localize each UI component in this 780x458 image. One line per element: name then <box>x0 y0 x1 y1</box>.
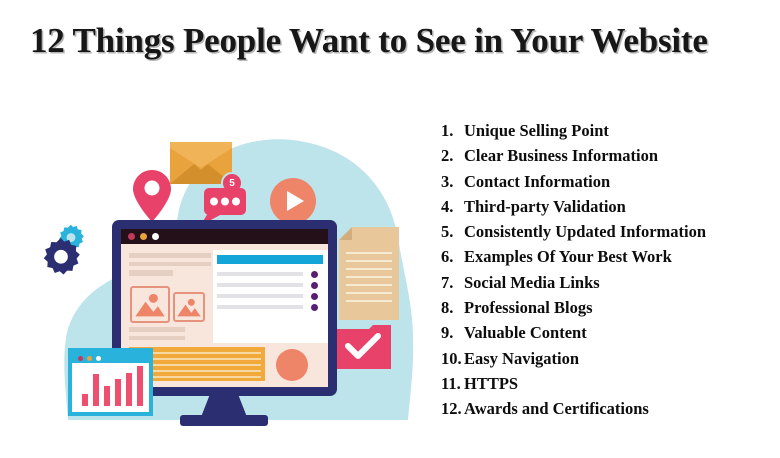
bullet-dot <box>311 282 318 289</box>
list-item: 3. Contact Information <box>441 169 771 194</box>
list-item: 5. Consistently Updated Information <box>441 219 771 244</box>
list-item-number: 6. <box>441 244 464 269</box>
chart-bar <box>104 386 110 406</box>
content-line <box>217 283 303 287</box>
folder-check-icon <box>335 325 391 369</box>
panel-line <box>129 270 173 276</box>
list-item-label: Easy Navigation <box>464 346 579 371</box>
chart-dot-amber <box>87 356 92 361</box>
list-item-label: Awards and Certifications <box>464 396 649 421</box>
map-pin-icon <box>133 170 171 222</box>
content-line <box>217 272 303 276</box>
list-item-number: 7. <box>441 270 464 295</box>
features-list: 1. Unique Selling Point 2. Clear Busines… <box>441 118 771 422</box>
list-item: 2. Clear Business Information <box>441 143 771 168</box>
list-item-label: Examples Of Your Best Work <box>464 244 672 269</box>
chart-bar <box>82 394 88 406</box>
list-item: 8. Professional Blogs <box>441 295 771 320</box>
envelope-icon: 5 <box>170 142 232 184</box>
list-item: 11. HTTPS <box>441 371 771 396</box>
list-item: 4. Third-party Validation <box>441 194 771 219</box>
list-item: 7. Social Media Links <box>441 270 771 295</box>
list-item-number: 3. <box>441 169 464 194</box>
monitor-neck <box>201 396 247 417</box>
content-header-bar <box>217 255 323 264</box>
page-title: 12 Things People Want to See in Your Web… <box>30 18 760 64</box>
chart-dot-red <box>78 356 83 361</box>
list-item-label: Professional Blogs <box>464 295 593 320</box>
list-item-label: Consistently Updated Information <box>464 219 706 244</box>
browser-titlebar <box>121 229 328 244</box>
play-button-icon <box>270 178 316 224</box>
panel-line <box>129 253 211 258</box>
image-glyph-icon <box>175 294 203 320</box>
list-item-number: 4. <box>441 194 464 219</box>
footer-avatar <box>276 349 308 381</box>
list-item: 6. Examples Of Your Best Work <box>441 244 771 269</box>
list-item-number: 8. <box>441 295 464 320</box>
image-placeholder <box>173 292 205 322</box>
bullet-dot <box>311 293 318 300</box>
list-item-label: Unique Selling Point <box>464 118 609 143</box>
chart-bar <box>137 366 143 406</box>
list-item-number: 9. <box>441 320 464 345</box>
list-item-number: 11. <box>441 371 464 396</box>
list-item-label: Clear Business Information <box>464 143 658 168</box>
panel-line <box>129 327 185 332</box>
list-item-label: Valuable Content <box>464 320 587 345</box>
list-item-number: 1. <box>441 118 464 143</box>
chart-bar <box>126 373 132 406</box>
list-item-number: 5. <box>441 219 464 244</box>
list-item: 1. Unique Selling Point <box>441 118 771 143</box>
infographic-page: 12 Things People Want to See in Your Web… <box>0 0 780 458</box>
illustration: 5 <box>0 100 440 458</box>
browser-dot-red <box>128 233 135 240</box>
document-icon <box>339 227 399 320</box>
list-item: 9. Valuable Content <box>441 320 771 345</box>
chart-dot-white <box>96 356 101 361</box>
browser-dot-white <box>152 233 159 240</box>
image-placeholder <box>130 286 170 323</box>
browser-dot-amber <box>140 233 147 240</box>
bullet-dot <box>311 271 318 278</box>
list-item-number: 2. <box>441 143 464 168</box>
monitor-base <box>180 415 268 426</box>
content-line <box>217 305 303 309</box>
bullet-dot <box>311 304 318 311</box>
image-glyph-icon <box>132 288 168 321</box>
list-item: 12. Awards and Certifications <box>441 396 771 421</box>
list-item: 10. Easy Navigation <box>441 346 771 371</box>
list-item-number: 12. <box>441 396 464 421</box>
chart-titlebar <box>72 352 149 363</box>
panel-line <box>129 262 211 266</box>
list-item-label: Third-party Validation <box>464 194 626 219</box>
list-item-label: Social Media Links <box>464 270 600 295</box>
list-item-number: 10. <box>441 346 464 371</box>
list-item-label: HTTPS <box>464 371 518 396</box>
panel-line <box>129 336 185 340</box>
chart-bar <box>115 379 121 406</box>
gear-icon <box>42 237 80 275</box>
list-item-label: Contact Information <box>464 169 610 194</box>
chart-bar <box>93 374 99 406</box>
content-line <box>217 294 303 298</box>
bar-chart-icon <box>68 348 153 416</box>
